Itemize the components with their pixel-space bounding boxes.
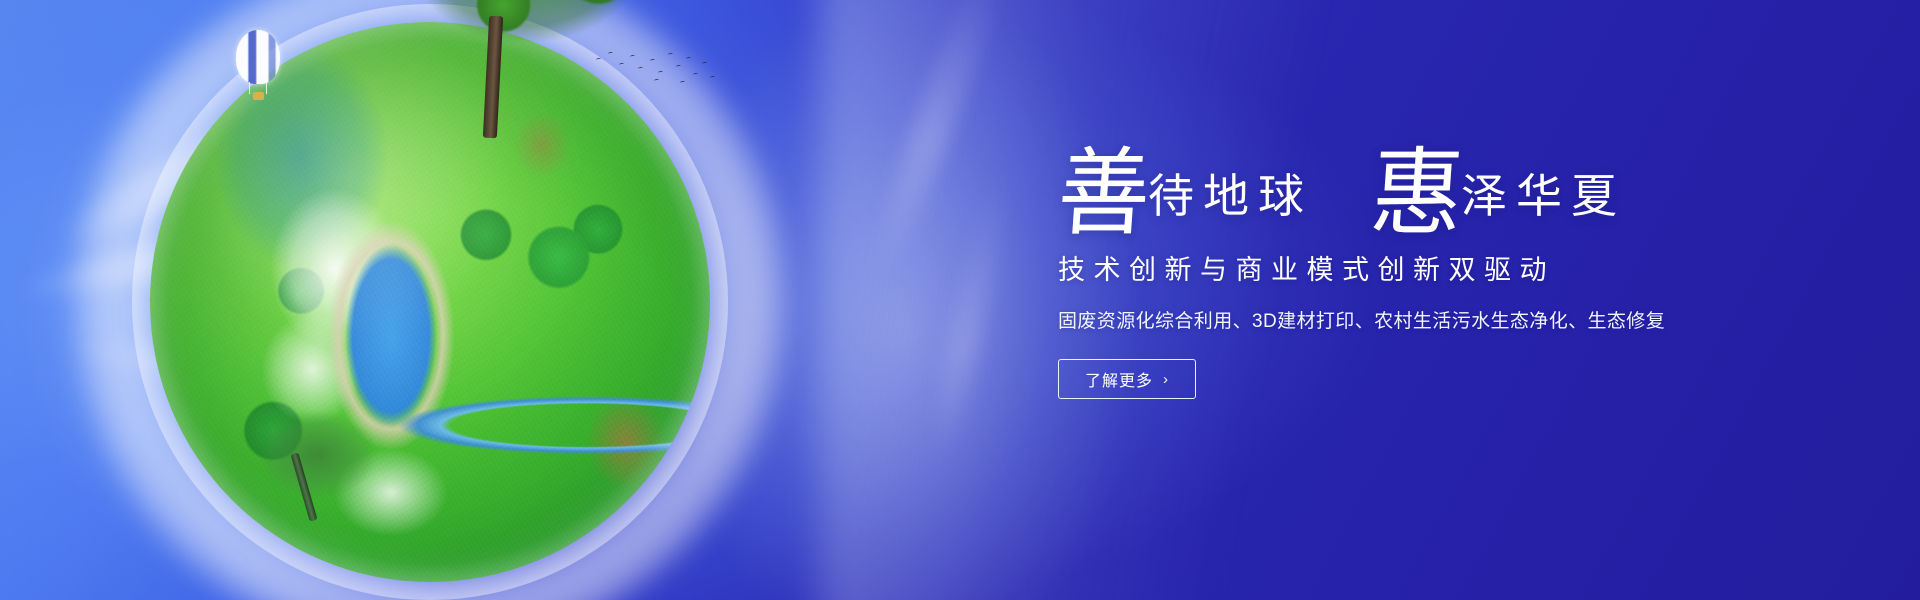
hero-headline: 善 待地球 惠 泽华夏 (1058, 128, 1758, 232)
balloon-basket (253, 92, 264, 100)
planet-sphere (150, 22, 710, 582)
hero-banner: 善 待地球 惠 泽华夏 技术创新与商业模式创新双驱动 固废资源化综合利用、3D建… (0, 0, 1920, 600)
headline-char-hui: 惠 (1368, 148, 1466, 240)
bird-icon (608, 52, 613, 56)
bird-icon (702, 62, 707, 66)
bird-icon (686, 57, 691, 61)
hero-description: 固废资源化综合利用、3D建材打印、农村生活污水生态净化、生态修复 (1058, 306, 1758, 333)
bird-icon (676, 65, 681, 69)
balloon-envelope (236, 30, 280, 84)
chevron-right-icon: › (1163, 372, 1169, 387)
planet-texture (150, 22, 710, 582)
bird-icon (638, 67, 643, 71)
bird-icon (630, 55, 635, 59)
bird-icon (654, 79, 659, 83)
bird-icon (680, 81, 685, 85)
bird-flock (592, 48, 722, 94)
bird-icon (693, 73, 698, 77)
hot-air-balloon-icon (236, 30, 280, 104)
secondary-tree-canopy (242, 400, 392, 510)
bird-icon (650, 59, 655, 63)
hero-text-block: 善 待地球 惠 泽华夏 技术创新与商业模式创新双驱动 固废资源化综合利用、3D建… (1058, 128, 1758, 399)
learn-more-button[interactable]: 了解更多 › (1058, 359, 1196, 399)
green-planet-graphic (150, 22, 710, 582)
headline-char-shan: 善 (1055, 148, 1153, 240)
bird-icon (619, 63, 624, 67)
bird-icon (596, 58, 601, 62)
learn-more-label: 了解更多 (1085, 367, 1153, 391)
hero-subtitle: 技术创新与商业模式创新双驱动 (1058, 248, 1758, 287)
cloud-streak (923, 166, 1017, 466)
bird-icon (710, 76, 715, 80)
bird-icon (668, 53, 673, 57)
headline-text-zehuaxia: 泽华夏 (1461, 174, 1626, 220)
bird-icon (658, 71, 663, 75)
headline-text-daidiqiu: 待地球 (1148, 174, 1313, 220)
